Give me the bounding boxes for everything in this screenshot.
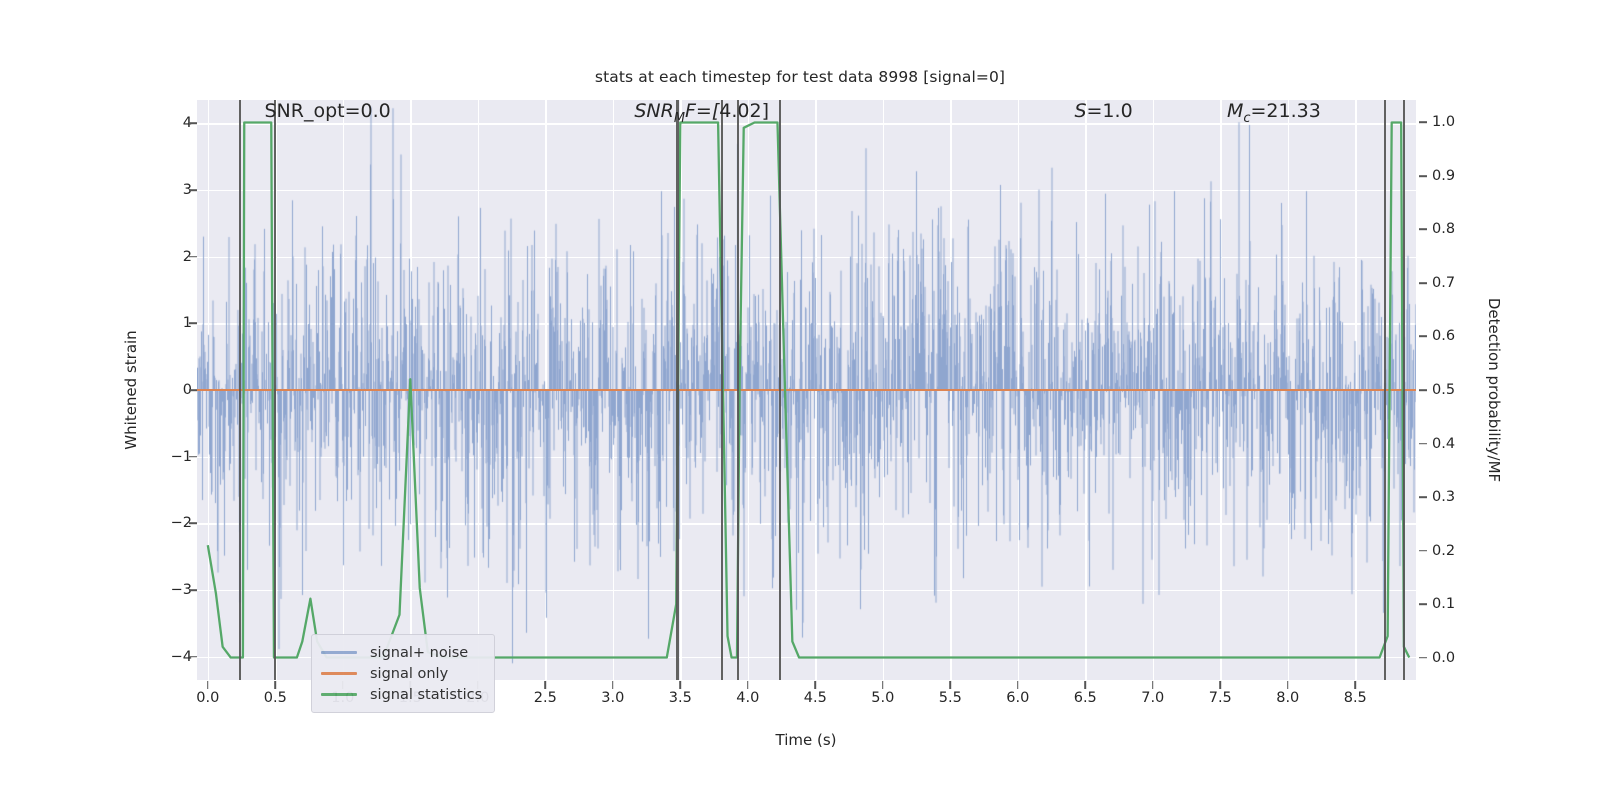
- legend-item-label: signal only: [370, 666, 448, 682]
- annotation-snr-mf: SNRMF=[4.02]: [634, 100, 769, 126]
- x-axis-tick-mark: [949, 681, 951, 689]
- x-axis-tick-mark: [1287, 681, 1289, 689]
- x-axis-tick-mark: [1017, 681, 1019, 689]
- detection-window-marker: [721, 100, 723, 680]
- y-axis-right-tick-mark: [1419, 657, 1427, 659]
- annotation-snr-opt: SNR_opt=0.0: [264, 100, 390, 122]
- y-axis-left-tick-mark: [189, 523, 197, 525]
- x-axis-tick-mark: [679, 681, 681, 689]
- x-axis-tick-label: 6.0: [1006, 690, 1029, 706]
- x-axis-tick-label: 2.5: [534, 690, 557, 706]
- legend-swatch-icon: [321, 672, 357, 674]
- detection-window-marker: [1384, 100, 1386, 680]
- chart-title: stats at each timestep for test data 899…: [0, 68, 1600, 86]
- y-axis-right-tick-mark: [1419, 229, 1427, 231]
- y-axis-left-tick-mark: [189, 256, 197, 258]
- chart-legend[interactable]: signal+ noisesignal onlysignal statistic…: [311, 634, 495, 713]
- y-axis-right-tick-label: 0.0: [1432, 650, 1455, 666]
- x-axis-tick-label: 8.0: [1276, 690, 1299, 706]
- x-axis-tick-label: 3.5: [669, 690, 692, 706]
- plot-area[interactable]: [197, 100, 1416, 680]
- x-axis-tick-label: 0.5: [264, 690, 287, 706]
- y-axis-left-tick-mark: [189, 589, 197, 591]
- y-axis-right-tick-mark: [1419, 389, 1427, 391]
- x-axis-tick-label: 7.0: [1141, 690, 1164, 706]
- y-axis-right-tick-label: 0.2: [1432, 543, 1455, 559]
- x-axis-tick-mark: [544, 681, 546, 689]
- y-axis-right-tick-label: 0.5: [1432, 382, 1455, 398]
- x-axis-tick-mark: [1152, 681, 1154, 689]
- y-axis-left-tick-mark: [189, 123, 197, 125]
- y-axis-right-tick-mark: [1419, 443, 1427, 445]
- y-axis-right-tick-label: 0.1: [1432, 596, 1455, 612]
- x-axis-tick-label: 8.5: [1344, 690, 1367, 706]
- detection-window-marker: [239, 100, 241, 680]
- y-axis-right-tick-label: 0.9: [1432, 168, 1455, 184]
- x-axis-tick-label: 3.0: [601, 690, 624, 706]
- legend-swatch-icon: [321, 651, 357, 653]
- y-axis-left-tick-mark: [189, 456, 197, 458]
- y-axis-right-label: Detection probability/MF: [1485, 298, 1503, 482]
- y-axis-left-tick-mark: [189, 323, 197, 325]
- legend-item-label: signal statistics: [370, 687, 482, 703]
- x-axis-tick-mark: [882, 681, 884, 689]
- detection-window-marker: [676, 100, 678, 680]
- y-axis-left-tick-mark: [189, 389, 197, 391]
- detection-window-marker: [779, 100, 781, 680]
- x-axis-tick-mark: [1354, 681, 1356, 689]
- x-axis-tick-label: 5.5: [939, 690, 962, 706]
- legend-item-1[interactable]: signal only: [321, 663, 482, 684]
- x-axis-tick-mark: [274, 681, 276, 689]
- x-axis-tick-label: 0.0: [196, 690, 219, 706]
- x-axis-tick-mark: [612, 681, 614, 689]
- x-axis-tick-label: 7.5: [1209, 690, 1232, 706]
- x-axis-tick-label: 5.0: [871, 690, 894, 706]
- y-axis-left-tick-mark: [189, 189, 197, 191]
- x-axis-tick-label: 4.5: [804, 690, 827, 706]
- x-axis-tick-label: 6.5: [1074, 690, 1097, 706]
- y-axis-right-tick-label: 0.7: [1432, 275, 1455, 291]
- detection-window-marker: [737, 100, 739, 680]
- figure-canvas: stats at each timestep for test data 899…: [0, 0, 1600, 800]
- legend-item-2[interactable]: signal statistics: [321, 684, 482, 705]
- x-axis-tick-mark: [1219, 681, 1221, 689]
- y-axis-right-tick-mark: [1419, 550, 1427, 552]
- x-axis-tick-mark: [747, 681, 749, 689]
- y-axis-left-tick-mark: [189, 656, 197, 658]
- y-axis-right-tick-mark: [1419, 603, 1427, 605]
- y-axis-right-tick-label: 0.4: [1432, 436, 1455, 452]
- x-axis-label: Time (s): [776, 731, 837, 749]
- x-axis-tick-mark: [1084, 681, 1086, 689]
- legend-swatch-icon: [321, 693, 357, 695]
- x-axis-tick-label: 4.0: [736, 690, 759, 706]
- y-axis-right-tick-mark: [1419, 122, 1427, 124]
- y-axis-right-tick-mark: [1419, 175, 1427, 177]
- x-axis-tick-mark: [207, 681, 209, 689]
- y-axis-right-tick-mark: [1419, 282, 1427, 284]
- x-axis-tick-mark: [814, 681, 816, 689]
- y-axis-right-tick-label: 1.0: [1432, 114, 1455, 130]
- legend-item-label: signal+ noise: [370, 645, 468, 661]
- legend-item-0[interactable]: signal+ noise: [321, 642, 482, 663]
- detection-window-markers: [197, 100, 1416, 680]
- y-axis-left-label: Whitened strain: [122, 330, 140, 449]
- detection-window-marker: [1403, 100, 1405, 680]
- annotation-chirp-mass: Mc=21.33: [1227, 100, 1321, 126]
- y-axis-right-tick-label: 0.8: [1432, 221, 1455, 237]
- y-axis-right-tick-label: 0.6: [1432, 328, 1455, 344]
- annotation-s-statistic: S=1.0: [1074, 100, 1132, 122]
- y-axis-right-tick-mark: [1419, 496, 1427, 498]
- detection-window-marker: [274, 100, 276, 680]
- y-axis-right-tick-label: 0.3: [1432, 489, 1455, 505]
- y-axis-right-tick-mark: [1419, 336, 1427, 338]
